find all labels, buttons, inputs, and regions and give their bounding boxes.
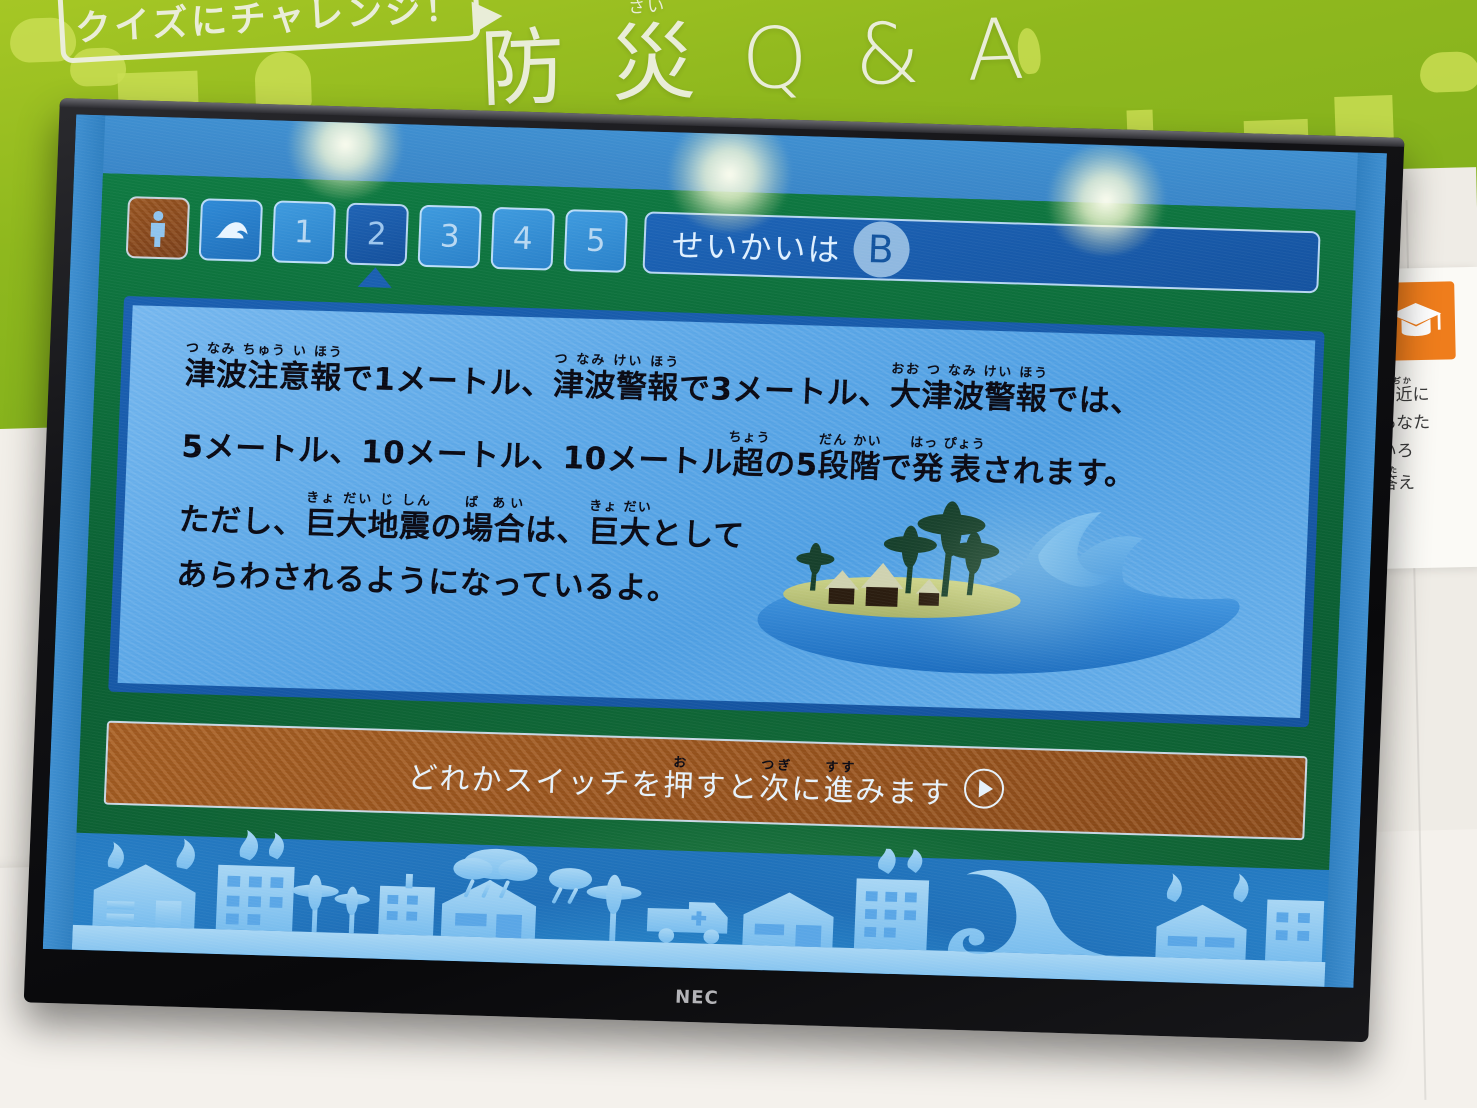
photo-scene: クイズにチャレンジ！ 防 災 Q & A さい 身近み ぢかに あなた いろ 答… [0, 0, 1477, 1108]
tv-display: 1 2 3 4 5 せいかいは B 津波注意報つ なみ ちゅう い ほうで1メー… [24, 98, 1405, 1042]
play-circle-icon[interactable] [963, 768, 1005, 809]
side-line-2: あなた [1379, 408, 1477, 438]
answer-letter-badge: B [853, 221, 911, 279]
wall-headline-text: 防 災 Q & A [479, 0, 1036, 119]
tab-question-3[interactable]: 3 [418, 205, 482, 269]
side-line-3: いろ [1379, 436, 1477, 466]
tab-question-4[interactable]: 4 [491, 207, 555, 271]
hint-bar-text: どれかスイッチを押おすと次つぎに進すすみます [407, 747, 953, 812]
person-icon [137, 208, 179, 249]
tab-question-1[interactable]: 1 [272, 201, 336, 265]
wall-headline-furigana: さい [628, 0, 667, 18]
nec-brand-logo: NEC [675, 987, 719, 1009]
tab-question-2[interactable]: 2 [345, 203, 409, 267]
explanation-line-2: 5メートル、10メートル、10メートル超ちょうの5段階だん かいで発表はっ ぴょ… [181, 413, 1276, 494]
tab-question-5[interactable]: 5 [564, 209, 628, 273]
wall-cloud-glyph [1419, 51, 1477, 93]
tab-category-tsunami[interactable] [199, 198, 263, 262]
answer-banner-label: せいかいは [671, 220, 843, 271]
screen-content: 1 2 3 4 5 せいかいは B 津波注意報つ なみ ちゅう い ほうで1メー… [43, 114, 1387, 987]
wall-headline: 防 災 Q & A さい [478, 0, 1036, 124]
tv-screen: 1 2 3 4 5 せいかいは B 津波注意報つ なみ ちゅう い ほうで1メー… [43, 114, 1387, 987]
wall-palm-glyph [254, 51, 312, 109]
tab-category-person[interactable] [126, 196, 190, 260]
wave-icon [210, 210, 252, 251]
explanation-panel: 津波注意報つ なみ ちゅう い ほうで1メートル、津波警報つ なみ けい ほうで… [108, 295, 1324, 727]
explanation-panel-inner: 津波注意報つ なみ ちゅう い ほうで1メートル、津波警報つ なみ けい ほうで… [118, 305, 1316, 718]
explanation-line-1: 津波注意報つ なみ ちゅう い ほうで1メートル、津波警報つ なみ けい ほうで… [184, 340, 1279, 421]
tsunami-island-illustration [721, 482, 1285, 710]
